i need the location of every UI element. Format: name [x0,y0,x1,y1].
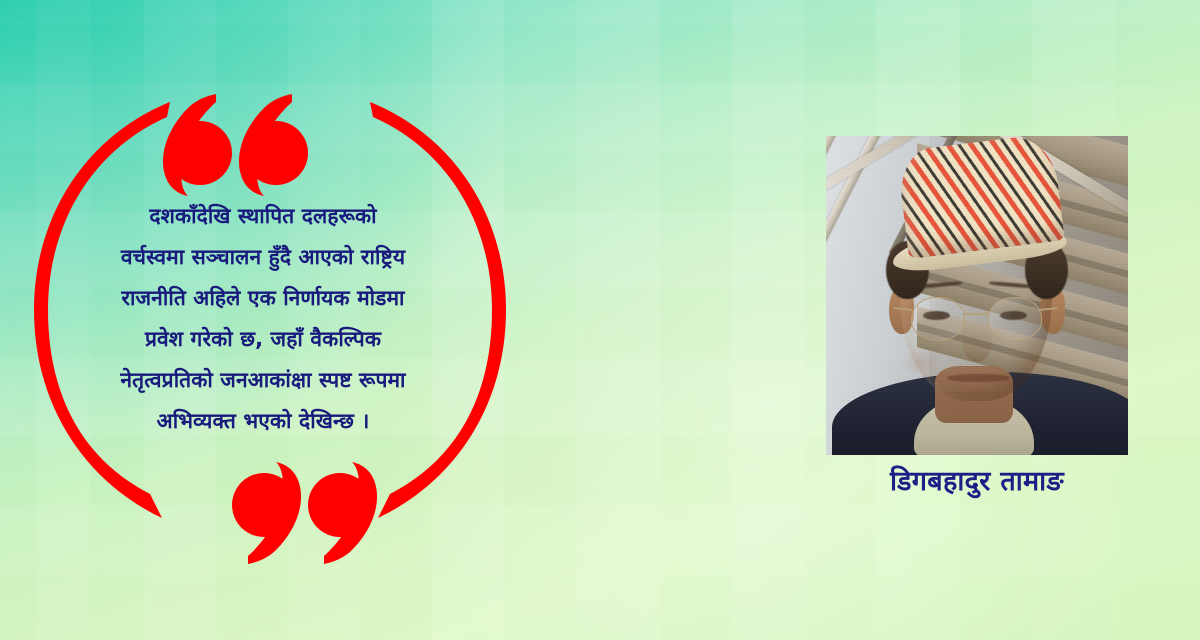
quote-line: वर्चस्वमा सञ्चालन हुँदै आएको राष्ट्रिय [48,237,478,278]
quote-card: दशकाँदेखि स्थापित दलहरूको वर्चस्वमा सञ्च… [0,0,1200,640]
photo-eyeglass-lens [911,297,966,340]
quote-line: नेतृत्वप्रतिको जनआकांक्षा स्पष्ट रूपमा [48,360,478,401]
person-name: डिगबहादुर तामाङ [826,461,1128,498]
photo-dhaka-topi [895,136,1064,260]
photo-cheek-shading [1013,347,1052,379]
photo-cheek-shading [902,347,941,379]
quote-text-block: दशकाँदेखि स्थापित दलहरूको वर्चस्वमा सञ्च… [48,196,478,442]
quote-line: अभिव्यक्त भएको देखिन्छ । [48,401,478,442]
closing-quote-mark [232,462,377,564]
photo-mouth [947,374,1010,382]
quote-line: दशकाँदेखि स्थापित दलहरूको [48,196,478,237]
photo-eyeglass-bridge [963,313,987,315]
quote-line: राजनीति अहिले एक निर्णायक मोडमा [48,278,478,319]
photo-chin-shading [929,391,1026,420]
quote-line: प्रवेश गरेको छ, जहाँ वैकल्पिक [48,319,478,360]
opening-quote-mark [163,94,308,196]
photo-eyeglass-lens [988,297,1043,340]
portrait-photo [826,136,1128,455]
